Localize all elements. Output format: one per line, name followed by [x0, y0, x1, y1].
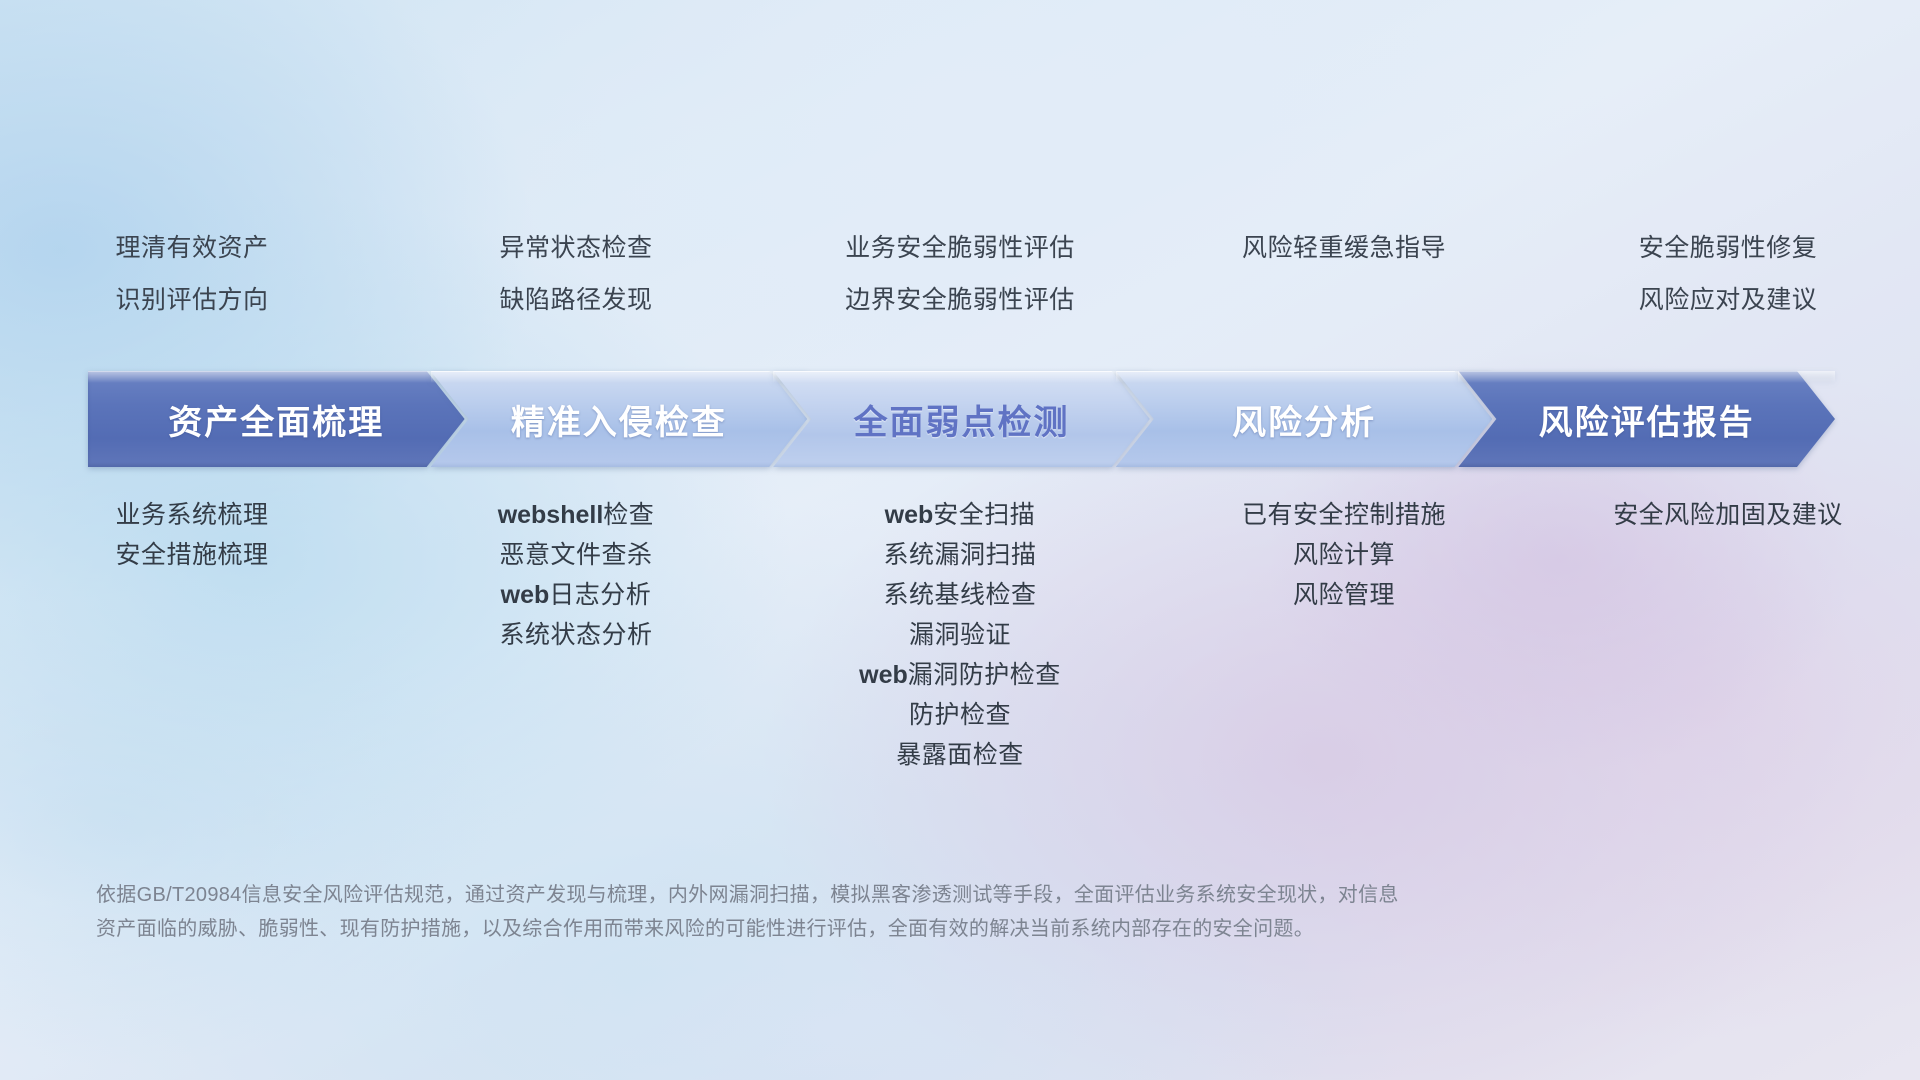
chevron-label: 精准入侵检查: [511, 395, 727, 444]
top-note: 风险应对及建议: [1639, 274, 1818, 326]
bottom-note: 恶意文件查杀: [499, 535, 652, 575]
bottom-note: webshell检查: [498, 495, 655, 535]
bottom-notes-col-intrusion-check: webshell检查恶意文件查杀web日志分析系统状态分析: [384, 495, 768, 775]
top-note: 业务安全脆弱性评估: [845, 222, 1075, 274]
top-note: 安全脆弱性修复: [1639, 222, 1818, 274]
bottom-note: web漏洞防护检查: [859, 655, 1061, 695]
bottom-notes-col-risk-analysis: 已有安全控制措施风险计算风险管理: [1152, 495, 1536, 775]
top-note: 识别评估方向: [115, 274, 268, 326]
top-note: 理清有效资产: [115, 222, 268, 274]
top-notes-col-intrusion-check: 异常状态检查缺陷路径发现: [384, 222, 768, 326]
chevron-label: 风险分析: [1232, 395, 1376, 444]
top-notes-col-weakness-detection: 业务安全脆弱性评估边界安全脆弱性评估: [768, 222, 1152, 326]
top-notes-col-asset-inventory: 理清有效资产识别评估方向: [0, 222, 384, 326]
bottom-notes-col-risk-report: 安全风险加固及建议: [1536, 495, 1920, 775]
chevron-label: 资产全面梳理: [168, 395, 384, 444]
top-notes-row: 理清有效资产识别评估方向异常状态检查缺陷路径发现业务安全脆弱性评估边界安全脆弱性…: [0, 222, 1920, 326]
latin-token: web: [885, 501, 934, 529]
chevron-label: 全面弱点检测: [853, 395, 1069, 444]
chevron-stage-risk-report[interactable]: 风险评估报告: [1458, 371, 1835, 467]
top-notes-col-risk-report: 安全脆弱性修复风险应对及建议: [1536, 222, 1920, 326]
top-note: 边界安全脆弱性评估: [845, 274, 1075, 326]
latin-token: web: [501, 581, 550, 609]
chevron-stage-weakness-detection[interactable]: 全面弱点检测: [773, 371, 1150, 467]
bottom-note: web日志分析: [501, 575, 652, 615]
bottom-notes-col-asset-inventory: 业务系统梳理安全措施梳理: [0, 495, 384, 775]
bottom-note: 风险计算: [1293, 535, 1395, 575]
process-chevron-band: 资产全面梳理精准入侵检查全面弱点检测风险分析风险评估报告: [88, 371, 1835, 467]
chevron-stage-asset-inventory[interactable]: 资产全面梳理: [88, 371, 465, 467]
bottom-note: 漏洞验证: [909, 615, 1011, 655]
chevron-stage-risk-analysis[interactable]: 风险分析: [1116, 371, 1493, 467]
top-notes-col-risk-analysis: 风险轻重缓急指导: [1152, 222, 1536, 326]
bottom-note: 业务系统梳理: [115, 495, 268, 535]
chevron-label: 风险评估报告: [1539, 395, 1755, 444]
bottom-note: 风险管理: [1293, 575, 1395, 615]
bottom-note: 已有安全控制措施: [1242, 495, 1446, 535]
chevron-stage-intrusion-check[interactable]: 精准入侵检查: [431, 371, 808, 467]
bottom-note: 系统基线检查: [883, 575, 1036, 615]
footer-description: 依据GB/T20984信息安全风险评估规范，通过资产发现与梳理，内外网漏洞扫描，…: [96, 878, 1616, 946]
latin-token: webshell: [498, 501, 604, 529]
latin-token: web: [859, 661, 908, 689]
bottom-note: 系统漏洞扫描: [883, 535, 1036, 575]
slide-canvas: 理清有效资产识别评估方向异常状态检查缺陷路径发现业务安全脆弱性评估边界安全脆弱性…: [0, 0, 1920, 1080]
bottom-note: 暴露面检查: [896, 735, 1024, 775]
top-note: 缺陷路径发现: [499, 274, 652, 326]
bottom-note: 防护检查: [909, 695, 1011, 735]
top-note: 异常状态检查: [499, 222, 652, 274]
bottom-note: web安全扫描: [885, 495, 1036, 535]
top-note: 风险轻重缓急指导: [1242, 222, 1446, 274]
bottom-note: 安全措施梳理: [115, 535, 268, 575]
bottom-note: 安全风险加固及建议: [1613, 495, 1843, 535]
footer-line-2: 资产面临的威胁、脆弱性、现有防护措施，以及综合作用而带来风险的可能性进行评估，全…: [96, 912, 1616, 946]
bottom-notes-row: 业务系统梳理安全措施梳理webshell检查恶意文件查杀web日志分析系统状态分…: [0, 495, 1920, 775]
bottom-note: 系统状态分析: [499, 615, 652, 655]
bottom-notes-col-weakness-detection: web安全扫描系统漏洞扫描系统基线检查漏洞验证web漏洞防护检查防护检查暴露面检…: [768, 495, 1152, 775]
footer-line-1: 依据GB/T20984信息安全风险评估规范，通过资产发现与梳理，内外网漏洞扫描，…: [96, 878, 1616, 912]
